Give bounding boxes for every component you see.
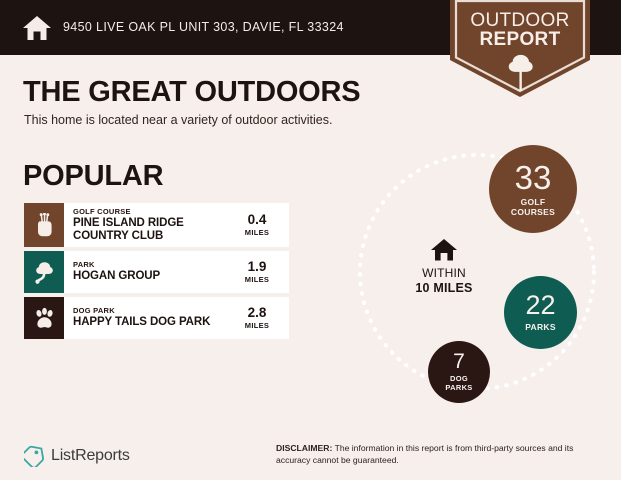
list-item[interactable]: GOLF COURSE PINE ISLAND RIDGE COUNTRY CL…	[24, 203, 289, 247]
list-item-distance: 1.9 MILES	[231, 251, 289, 293]
property-address: 9450 LIVE OAK PL UNIT 303, DAVIE, FL 333…	[63, 20, 344, 34]
disclaimer-label: DISCLAIMER:	[276, 443, 332, 453]
list-item-body: PARK HOGAN GROUP	[64, 251, 231, 293]
list-item-icon-tile	[24, 203, 64, 247]
stat-label: GOLF COURSES	[511, 198, 555, 218]
list-item-distance-value: 0.4	[248, 213, 267, 227]
stat-count: 33	[515, 161, 552, 194]
stat-count: 7	[453, 351, 465, 372]
list-item[interactable]: PARK HOGAN GROUP 1.9 MILES	[24, 251, 289, 293]
listreports-logo-text: ListReports	[51, 447, 130, 465]
home-icon	[22, 14, 52, 42]
stat-label-line-2: PARKS	[445, 383, 472, 392]
stat-label-line-2: COURSES	[511, 207, 555, 217]
list-item-distance-unit: MILES	[245, 275, 269, 284]
stat-circle-parks: 22 PARKS	[504, 276, 577, 349]
stat-label: PARKS	[525, 323, 556, 333]
page-title: THE GREAT OUTDOORS	[23, 76, 360, 109]
list-item-category: DOG PARK	[73, 307, 227, 316]
list-item-distance-value: 2.8	[248, 306, 267, 320]
paw-icon	[33, 307, 56, 330]
stat-label: DOG PARKS	[445, 375, 472, 392]
golf-bag-icon	[33, 213, 55, 237]
list-item-icon-tile	[24, 251, 64, 293]
list-item-name: HAPPY TAILS DOG PARK	[73, 316, 227, 329]
page-subtitle: This home is located near a variety of o…	[24, 113, 332, 127]
disclaimer: DISCLAIMER: The information in this repo…	[276, 442, 601, 467]
within-radius-block: WITHIN 10 MILES	[398, 238, 490, 295]
stat-label-line-1: GOLF	[521, 197, 546, 207]
list-item-icon-tile	[24, 297, 64, 339]
tree-icon	[32, 260, 56, 284]
list-item-distance-value: 1.9	[248, 260, 267, 274]
list-item-name: HOGAN GROUP	[73, 270, 227, 283]
stat-circle-golf-courses: 33 GOLF COURSES	[489, 145, 577, 233]
within-distance: 10 MILES	[398, 281, 490, 295]
list-item-category: GOLF COURSE	[73, 208, 227, 217]
listreports-logo[interactable]: ListReports	[24, 444, 130, 467]
outdoor-report-page: 9450 LIVE OAK PL UNIT 303, DAVIE, FL 333…	[0, 0, 621, 480]
list-item-distance-unit: MILES	[245, 321, 269, 330]
stat-count: 22	[525, 292, 555, 319]
list-item-distance-unit: MILES	[245, 228, 269, 237]
stat-circle-dog-parks: 7 DOG PARKS	[428, 341, 490, 403]
list-item-body: GOLF COURSE PINE ISLAND RIDGE COUNTRY CL…	[64, 203, 231, 247]
listreports-logo-icon	[24, 444, 45, 467]
list-item-distance: 0.4 MILES	[231, 203, 289, 247]
within-label: WITHIN	[398, 266, 490, 280]
list-item-category: PARK	[73, 261, 227, 270]
popular-list: GOLF COURSE PINE ISLAND RIDGE COUNTRY CL…	[24, 203, 289, 343]
list-item-body: DOG PARK HAPPY TAILS DOG PARK	[64, 297, 231, 339]
outdoor-report-badge: OUTDOOR REPORT	[450, 0, 590, 97]
list-item-distance: 2.8 MILES	[231, 297, 289, 339]
section-heading-popular: POPULAR	[23, 160, 163, 193]
list-item[interactable]: DOG PARK HAPPY TAILS DOG PARK 2.8 MILES	[24, 297, 289, 339]
home-icon	[430, 238, 458, 262]
list-item-name: PINE ISLAND RIDGE COUNTRY CLUB	[73, 217, 227, 242]
